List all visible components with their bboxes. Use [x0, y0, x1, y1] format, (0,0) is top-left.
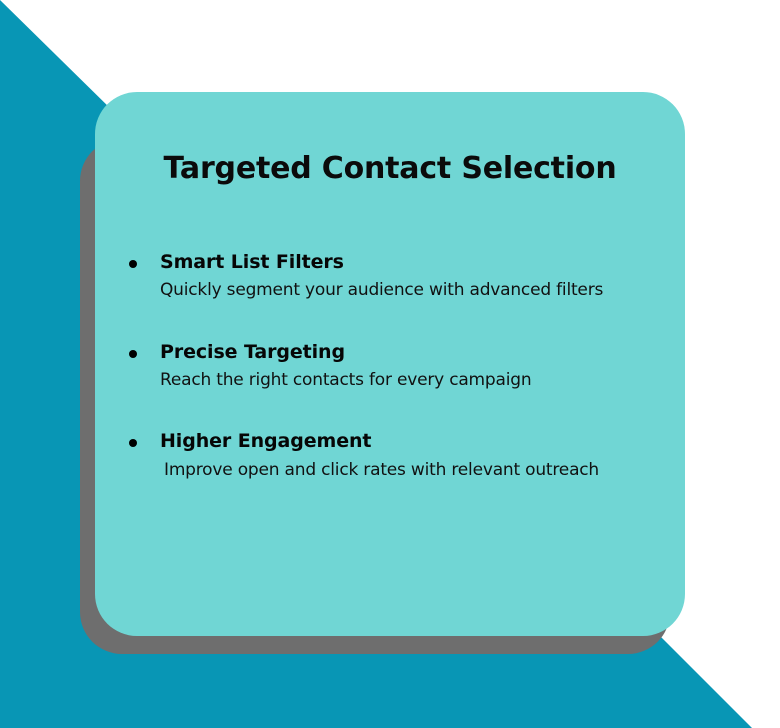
- list-item: Higher Engagement Improve open and click…: [124, 431, 671, 480]
- bullet-icon: [129, 350, 137, 358]
- bullet-icon: [129, 439, 137, 447]
- feature-description: Improve open and click rates with releva…: [154, 460, 671, 480]
- list-item: Precise Targeting Reach the right contac…: [124, 342, 671, 391]
- feature-heading: Higher Engagement: [154, 431, 671, 452]
- feature-heading: Smart List Filters: [154, 252, 671, 273]
- feature-heading: Precise Targeting: [154, 342, 671, 363]
- feature-description: Reach the right contacts for every campa…: [154, 370, 671, 390]
- feature-description: Quickly segment your audience with advan…: [154, 280, 671, 300]
- feature-list: Smart List Filters Quickly segment your …: [124, 252, 671, 480]
- page-title: Targeted Contact Selection: [95, 152, 685, 185]
- list-item: Smart List Filters Quickly segment your …: [124, 252, 671, 301]
- bullet-icon: [129, 260, 137, 268]
- feature-card: Targeted Contact Selection Smart List Fi…: [95, 92, 685, 636]
- slide-canvas: Targeted Contact Selection Smart List Fi…: [0, 0, 780, 728]
